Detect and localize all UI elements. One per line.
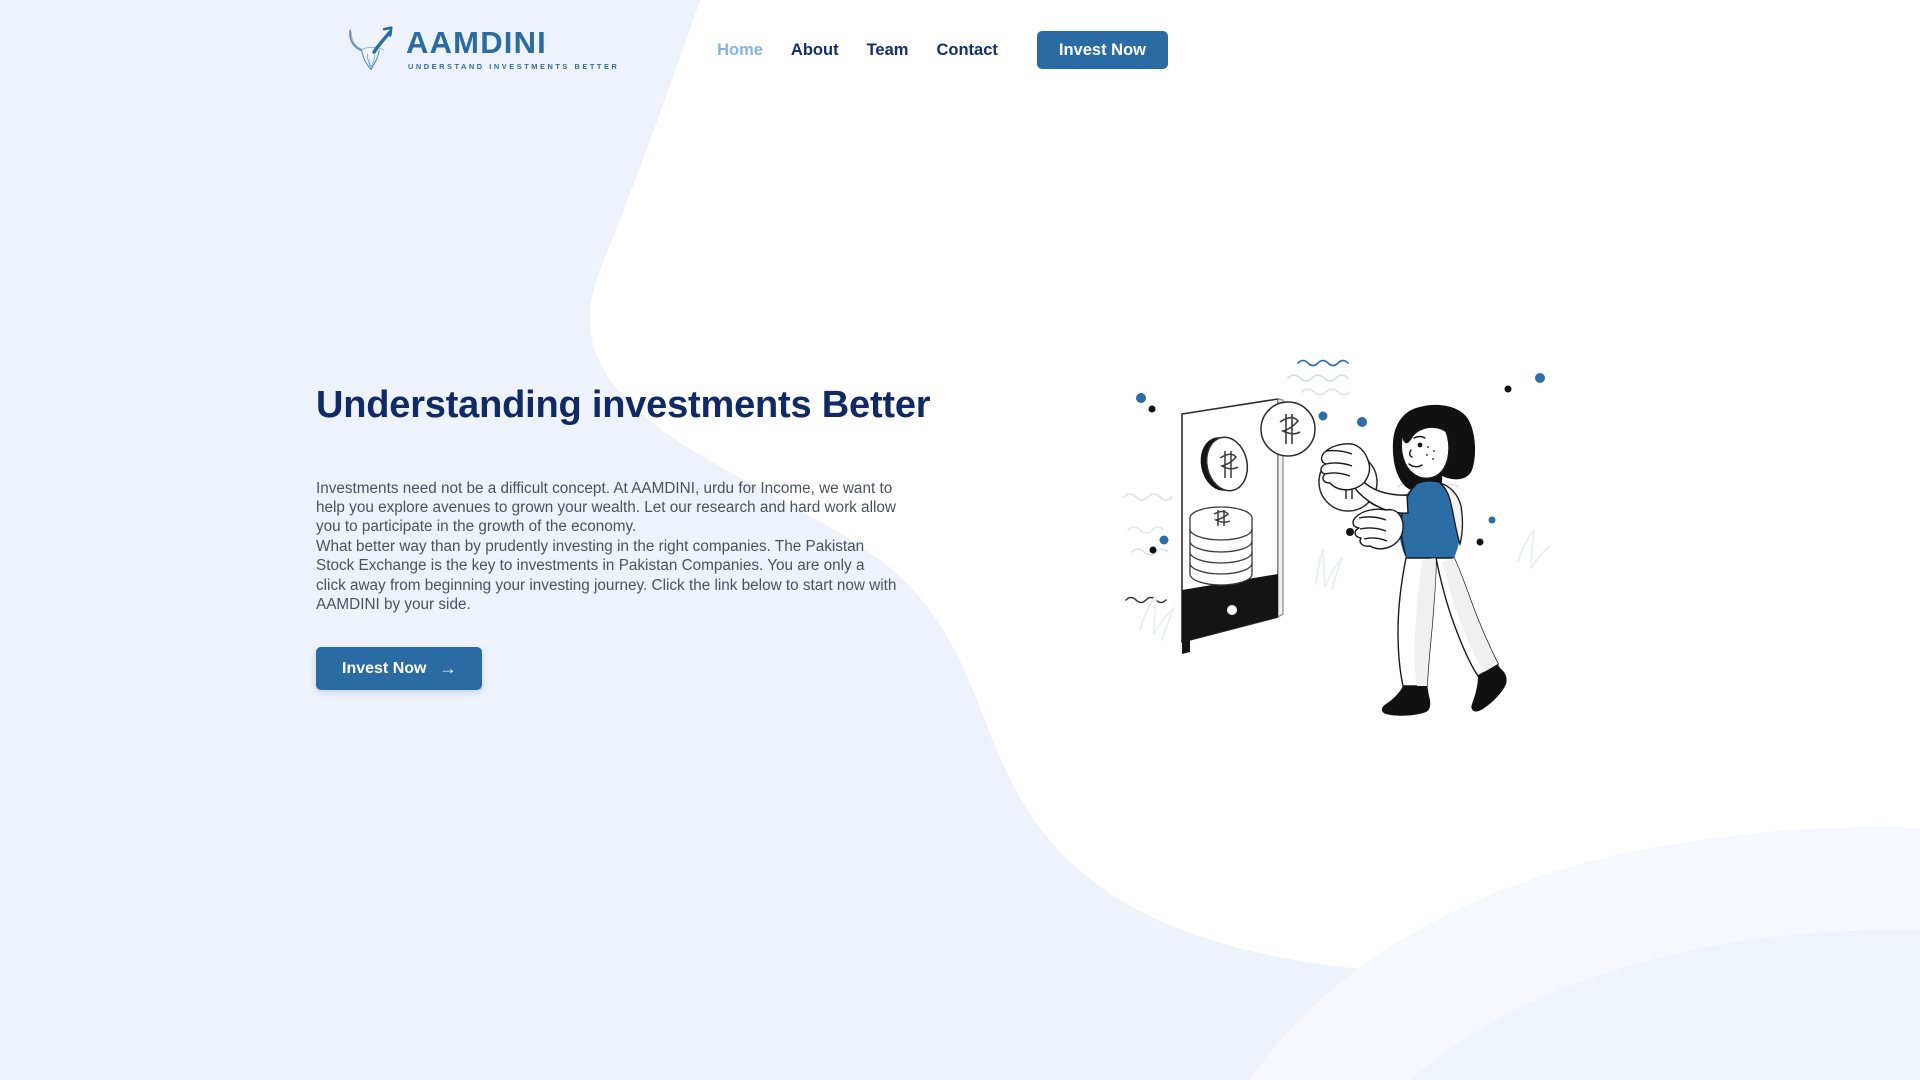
hero-copy: Understanding investments Better Investm…	[316, 382, 916, 690]
brand-tagline: UNDERSTAND INVESTMENTS BETTER	[406, 62, 619, 71]
hand-upper	[1321, 444, 1370, 490]
nav-item-home[interactable]: Home	[703, 28, 777, 72]
brand-name: AAMDINI	[406, 27, 619, 60]
eye	[1418, 443, 1423, 448]
header-invest-now-button[interactable]: Invest Now	[1037, 31, 1168, 69]
nav-item-team[interactable]: Team	[853, 28, 923, 72]
nav-item-contact[interactable]: Contact	[922, 28, 1011, 72]
wavy-line	[1302, 389, 1350, 395]
brand-text: AAMDINI UNDERSTAND INVESTMENTS BETTER	[406, 27, 619, 72]
hero-title: Understanding investments Better	[316, 382, 916, 430]
arrow-right-icon: →	[439, 660, 456, 677]
hero-paragraph-1: Investments need not be a difficult conc…	[316, 479, 898, 537]
nav-item-about[interactable]: About	[777, 28, 853, 72]
woman-in-blue-top	[1321, 405, 1507, 716]
wavy-line	[1124, 494, 1172, 500]
brand-logo[interactable]: AAMDINI UNDERSTAND INVESTMENTS BETTER	[345, 23, 619, 75]
shoe-left	[1382, 686, 1430, 716]
hero-paragraph-2: What better way than by prudently invest…	[316, 537, 898, 615]
hero-illustration	[1120, 352, 1560, 752]
hero-invest-now-button[interactable]: Invest Now →	[316, 647, 482, 690]
hero-invest-now-label: Invest Now	[342, 660, 426, 678]
landing-page: AAMDINI UNDERSTAND INVESTMENTS BETTER Ho…	[0, 0, 1920, 1080]
hero-section: Understanding investments Better Investm…	[0, 0, 1920, 1080]
hero-body: Investments need not be a difficult conc…	[316, 479, 898, 615]
primary-navigation: Home About Team Contact Invest Now	[703, 28, 1168, 72]
falling-coin	[1261, 402, 1315, 456]
wavy-line	[1288, 375, 1348, 381]
wavy-line	[1128, 527, 1164, 533]
coin-stack	[1190, 507, 1252, 585]
bull-arrow-logo-icon	[345, 23, 397, 75]
hand-lower	[1353, 509, 1403, 549]
home-button-dot	[1227, 605, 1237, 615]
wavy-line-blue	[1298, 361, 1348, 366]
wavy-line	[1126, 598, 1166, 603]
site-header: AAMDINI UNDERSTAND INVESTMENTS BETTER Ho…	[0, 0, 1920, 98]
